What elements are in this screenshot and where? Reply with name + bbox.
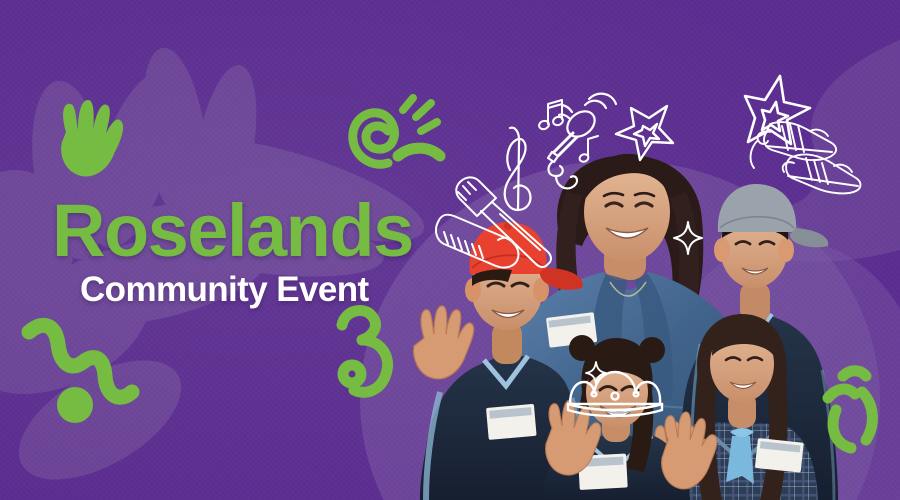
banner-text-block: Roselands Community Event — [52, 196, 413, 307]
page-subtitle: Community Event — [80, 272, 413, 307]
page-title: Roselands — [52, 196, 413, 266]
event-banner: Roselands Community Event — [0, 0, 900, 500]
